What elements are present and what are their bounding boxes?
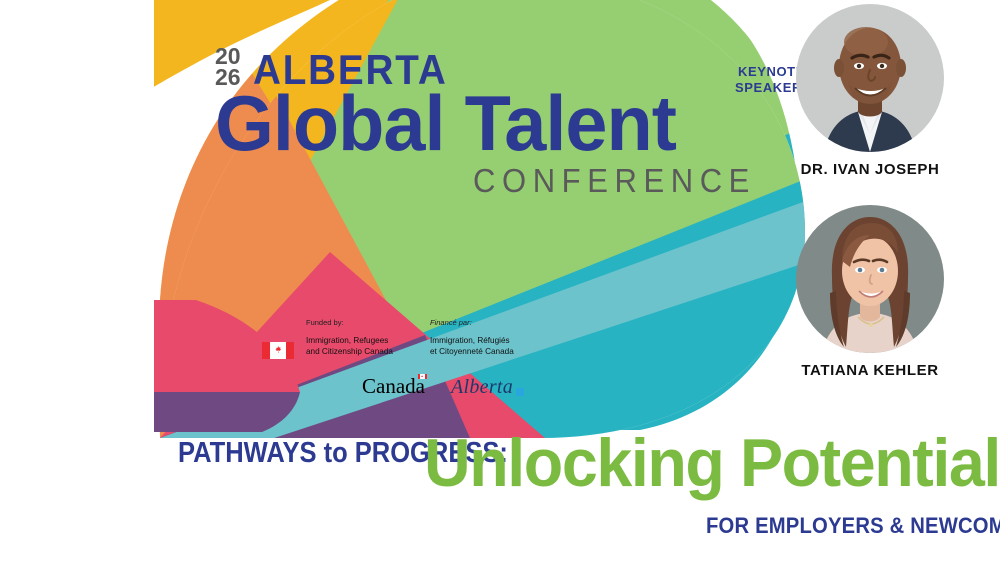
logo-subtitle: CONFERENCE xyxy=(473,164,719,197)
artwork-left-trim xyxy=(0,0,154,565)
alberta-wordmark-square-icon xyxy=(516,388,524,396)
speaker-card-1: DR. IVAN JOSEPH xyxy=(780,4,960,178)
headline-subline: FOR EMPLOYERS & NEWCOMERS xyxy=(706,513,1000,539)
conference-poster: 20 26 ALBERTA Global Talent CONFERENCE F… xyxy=(0,0,1000,565)
funder-body-en-line1: Immigration, Refugees xyxy=(306,336,408,347)
wordmark-row: Canada Alberta xyxy=(362,376,513,397)
funder-body-fr-line1: Immigration, Réfugiés xyxy=(430,336,532,347)
funder-kicker-en: Funded by: xyxy=(306,318,408,327)
canada-wordmark-text: Canada xyxy=(362,374,425,398)
funder-body-en-line2: and Citizenship Canada xyxy=(306,347,408,358)
speaker-card-2: TATIANA KEHLER xyxy=(780,205,960,379)
speaker-2-name: TATIANA KEHLER xyxy=(780,362,960,379)
funder-columns: Funded by: Immigration, Refugees and Cit… xyxy=(262,318,532,357)
funder-kicker-fr: Financé par: xyxy=(430,318,532,327)
funder-col-fr: Financé par: Immigration, Réfugiés et Ci… xyxy=(430,318,532,357)
artwork-tab-purple xyxy=(154,392,300,432)
canada-flag-icon xyxy=(262,342,294,359)
speaker-1-name: DR. IVAN JOSEPH xyxy=(780,161,960,178)
speaker-1-avatar xyxy=(796,4,944,152)
logo-lockup: 20 26 ALBERTA Global Talent CONFERENCE xyxy=(215,40,735,197)
speaker-2-avatar xyxy=(796,205,944,353)
alberta-wordmark-text: Alberta xyxy=(451,376,513,398)
funder-block: Funded by: Immigration, Refugees and Cit… xyxy=(262,318,532,357)
funder-body-fr-line2: et Citoyenneté Canada xyxy=(430,347,532,358)
logo-title: Global Talent xyxy=(215,88,719,160)
canada-wordmark-flag-icon xyxy=(418,374,427,379)
headline-main: Unlocking Potential xyxy=(424,429,1000,497)
canada-wordmark: Canada xyxy=(362,376,425,397)
alberta-wordmark: Alberta xyxy=(451,377,513,397)
artwork-wedge-yellow-top-right xyxy=(352,0,420,26)
